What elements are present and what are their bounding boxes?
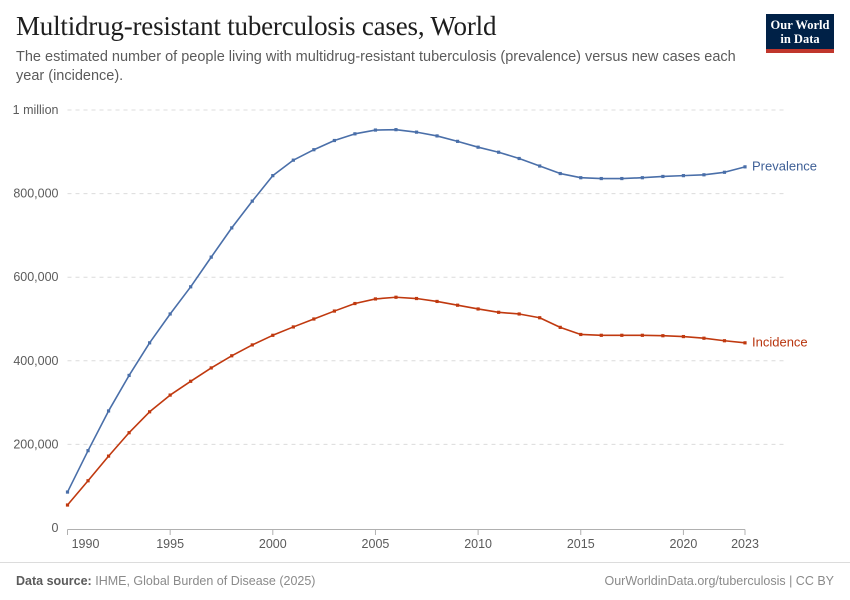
data-point-marker[interactable]	[723, 171, 726, 174]
data-point-marker[interactable]	[661, 175, 664, 178]
data-point-marker[interactable]	[415, 131, 418, 134]
series-line-prevalence[interactable]	[68, 130, 746, 492]
data-point-marker[interactable]	[415, 297, 418, 300]
data-source-label: Data source:	[16, 574, 92, 588]
data-point-marker[interactable]	[271, 174, 274, 177]
data-point-marker[interactable]	[353, 132, 356, 135]
data-point-marker[interactable]	[435, 300, 438, 303]
data-point-marker[interactable]	[641, 334, 644, 337]
data-point-marker[interactable]	[333, 309, 336, 312]
series-labels-group[interactable]: PrevalenceIncidence	[752, 158, 817, 349]
x-axis-tick-label: 2005	[362, 537, 390, 551]
data-point-marker[interactable]	[538, 316, 541, 319]
data-point-marker[interactable]	[251, 343, 254, 346]
x-axis-tick-label: 2000	[259, 537, 287, 551]
data-point-marker[interactable]	[456, 304, 459, 307]
x-axis-tick-label: 2020	[670, 537, 698, 551]
data-point-marker[interactable]	[333, 139, 336, 142]
data-point-marker[interactable]	[600, 334, 603, 337]
line-chart-svg[interactable]: 0200,000400,000600,000800,0001 million 1…	[0, 0, 850, 560]
series-label-prevalence[interactable]: Prevalence	[752, 158, 817, 173]
data-point-marker[interactable]	[600, 177, 603, 180]
data-point-marker[interactable]	[620, 334, 623, 337]
gridlines-group	[68, 110, 786, 444]
data-source: Data source: IHME, Global Burden of Dise…	[16, 574, 315, 588]
data-point-marker[interactable]	[292, 159, 295, 162]
data-point-marker[interactable]	[702, 337, 705, 340]
data-point-marker[interactable]	[66, 503, 69, 506]
data-point-marker[interactable]	[127, 374, 130, 377]
x-axis-group	[68, 530, 746, 536]
data-point-marker[interactable]	[518, 312, 521, 315]
data-point-marker[interactable]	[230, 226, 233, 229]
data-point-marker[interactable]	[292, 325, 295, 328]
data-point-marker[interactable]	[641, 176, 644, 179]
y-axis-labels-group: 0200,000400,000600,000800,0001 million	[13, 103, 59, 535]
x-axis-tick-label: 1990	[72, 537, 100, 551]
y-axis-tick-label: 400,000	[13, 354, 58, 368]
plot-area: 0200,000400,000600,000800,0001 million 1…	[0, 0, 850, 560]
x-axis-labels-group: 19901995200020052010201520202023	[72, 537, 759, 551]
y-axis-tick-label: 1 million	[13, 103, 59, 117]
chart-footer: Data source: IHME, Global Burden of Dise…	[0, 562, 850, 600]
data-point-marker[interactable]	[86, 449, 89, 452]
x-axis-tick-label: 2015	[567, 537, 595, 551]
data-point-marker[interactable]	[230, 354, 233, 357]
data-point-marker[interactable]	[682, 174, 685, 177]
data-point-marker[interactable]	[435, 134, 438, 137]
data-point-marker[interactable]	[251, 200, 254, 203]
data-point-marker[interactable]	[661, 334, 664, 337]
data-point-marker[interactable]	[579, 333, 582, 336]
data-point-marker[interactable]	[189, 380, 192, 383]
data-point-marker[interactable]	[189, 285, 192, 288]
x-axis-tick-label: 1995	[156, 537, 184, 551]
data-point-marker[interactable]	[127, 431, 130, 434]
data-point-marker[interactable]	[169, 312, 172, 315]
y-axis-tick-label: 200,000	[13, 437, 58, 451]
chart-container: Multidrug-resistant tuberculosis cases, …	[0, 0, 850, 600]
data-point-marker[interactable]	[374, 128, 377, 131]
data-point-marker[interactable]	[86, 479, 89, 482]
data-point-marker[interactable]	[374, 297, 377, 300]
data-point-marker[interactable]	[312, 148, 315, 151]
data-point-marker[interactable]	[312, 317, 315, 320]
data-point-marker[interactable]	[456, 140, 459, 143]
data-point-marker[interactable]	[497, 151, 500, 154]
data-point-marker[interactable]	[107, 409, 110, 412]
data-point-marker[interactable]	[620, 177, 623, 180]
data-point-marker[interactable]	[579, 176, 582, 179]
data-point-marker[interactable]	[477, 307, 480, 310]
series-label-incidence[interactable]: Incidence	[752, 334, 808, 349]
y-axis-tick-label: 0	[52, 521, 59, 535]
data-point-marker[interactable]	[559, 326, 562, 329]
data-point-marker[interactable]	[148, 341, 151, 344]
y-axis-tick-label: 600,000	[13, 270, 58, 284]
data-point-marker[interactable]	[518, 157, 521, 160]
data-point-marker[interactable]	[394, 128, 397, 131]
series-line-incidence[interactable]	[68, 297, 746, 505]
data-point-marker[interactable]	[210, 366, 213, 369]
data-point-marker[interactable]	[148, 410, 151, 413]
x-axis-tick-label: 2023	[731, 537, 759, 551]
data-point-marker[interactable]	[353, 302, 356, 305]
data-point-marker[interactable]	[271, 334, 274, 337]
data-point-marker[interactable]	[66, 490, 69, 493]
data-source-value: IHME, Global Burden of Disease (2025)	[95, 574, 315, 588]
data-point-marker[interactable]	[559, 172, 562, 175]
attribution-link[interactable]: OurWorldinData.org/tuberculosis | CC BY	[605, 574, 835, 588]
data-point-marker[interactable]	[743, 165, 746, 168]
data-point-marker[interactable]	[743, 341, 746, 344]
data-point-marker[interactable]	[702, 173, 705, 176]
x-axis-tick-label: 2010	[464, 537, 492, 551]
y-axis-tick-label: 800,000	[13, 187, 58, 201]
data-point-marker[interactable]	[477, 146, 480, 149]
data-point-marker[interactable]	[723, 339, 726, 342]
data-point-marker[interactable]	[107, 455, 110, 458]
data-point-marker[interactable]	[169, 393, 172, 396]
data-point-marker[interactable]	[538, 164, 541, 167]
data-point-marker[interactable]	[210, 256, 213, 259]
data-point-marker[interactable]	[394, 296, 397, 299]
series-lines-group[interactable]	[68, 130, 746, 505]
data-point-marker[interactable]	[682, 335, 685, 338]
data-point-marker[interactable]	[497, 311, 500, 314]
